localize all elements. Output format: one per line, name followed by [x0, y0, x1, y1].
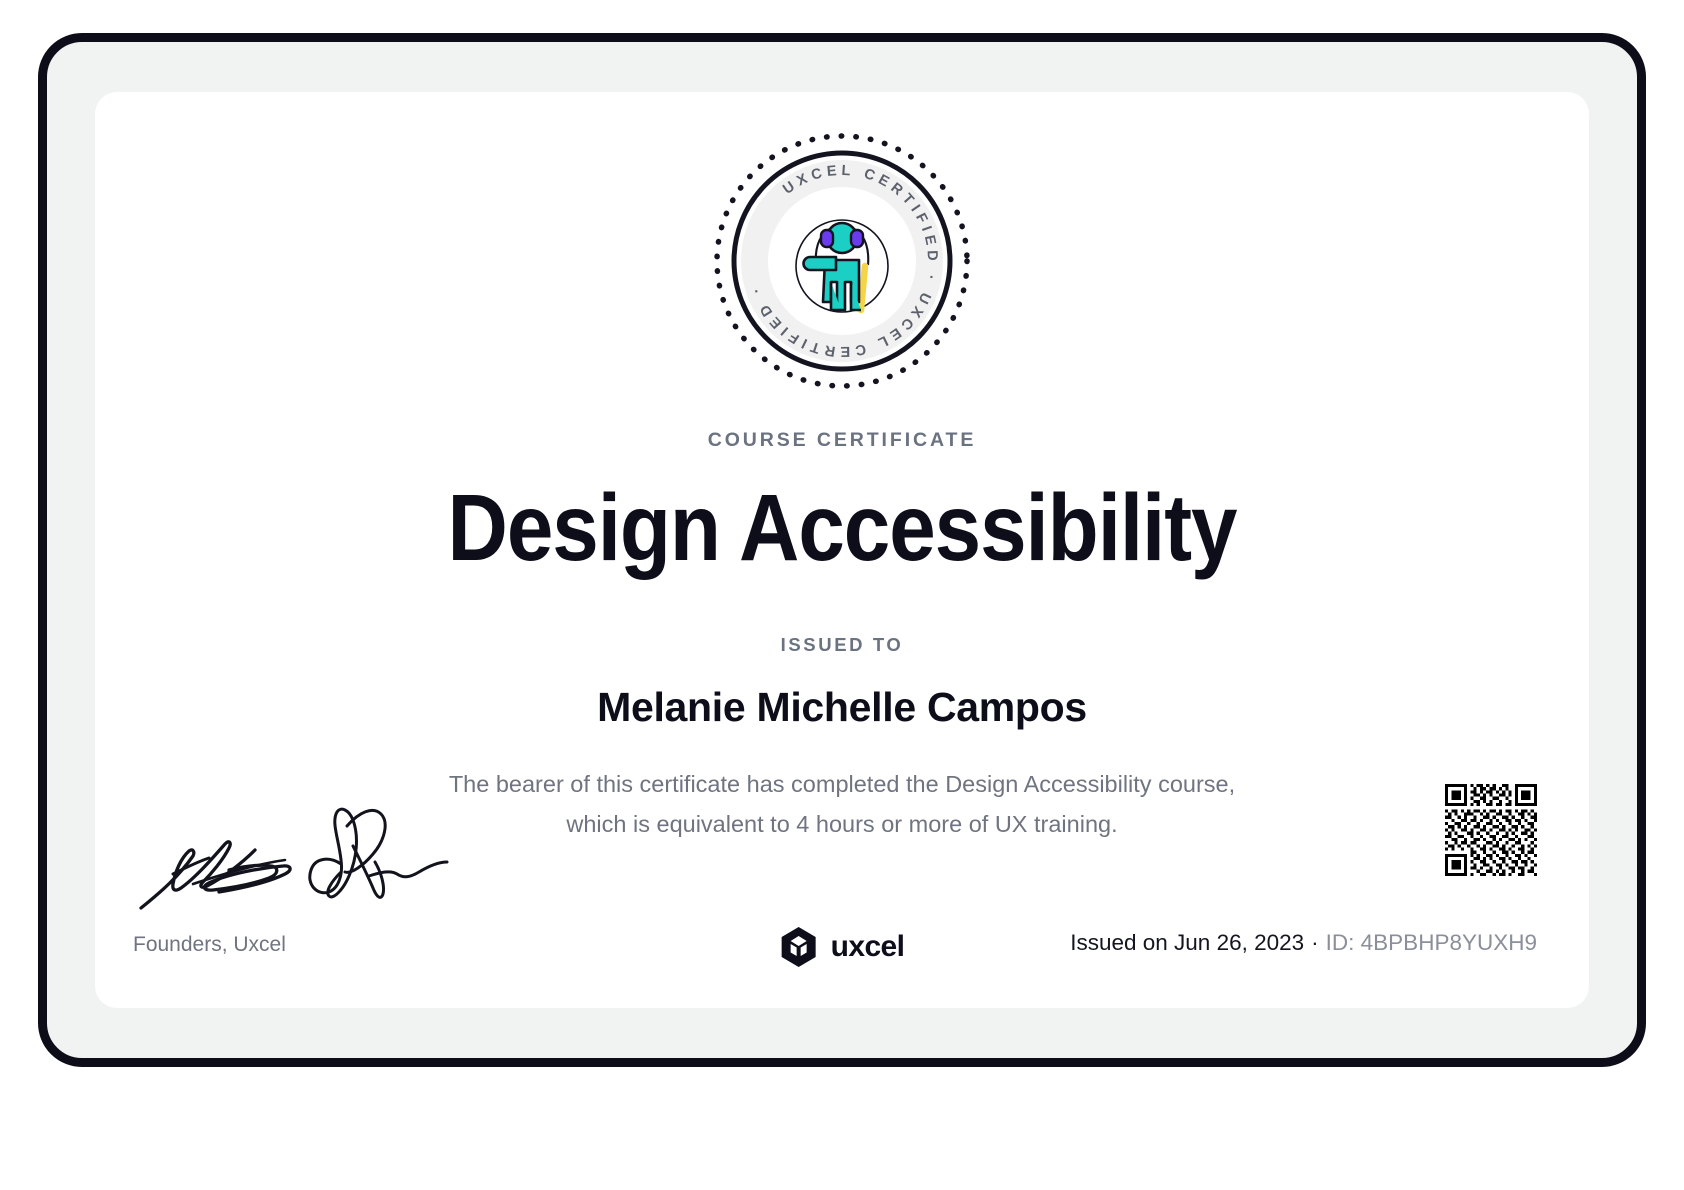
uxcel-certified-badge: UXCEL CERTIFIED · UXCEL CERTIFIED ·	[95, 130, 1589, 392]
uxcel-brand-logo: uxcel	[780, 926, 905, 968]
badge-svg: UXCEL CERTIFIED · UXCEL CERTIFIED ·	[711, 130, 973, 392]
issued-on-date: Issued on Jun 26, 2023	[1070, 930, 1304, 955]
uxcel-cube-logo-icon	[780, 926, 818, 968]
signatures-group	[133, 796, 473, 931]
certificate-title: Design Accessibility	[185, 480, 1500, 577]
founders-label: Founders, Uxcel	[133, 933, 286, 957]
uxcel-wordmark: uxcel	[831, 930, 905, 964]
certificate-frame: UXCEL CERTIFIED · UXCEL CERTIFIED ·	[38, 33, 1646, 1067]
person-arm	[804, 257, 837, 270]
founder-signature-1	[141, 842, 290, 908]
signatures-svg	[133, 796, 463, 926]
recipient-name: Melanie Michelle Campos	[95, 684, 1589, 731]
course-certificate-eyebrow: COURSE CERTIFICATE	[95, 429, 1589, 452]
headphone-right-cup	[851, 230, 863, 247]
verification-qr-code[interactable]	[1445, 784, 1537, 876]
credential-id: ID: 4BPBHP8YUXH9	[1326, 930, 1537, 955]
headphone-left-cup	[821, 230, 833, 247]
founder-signature-2	[310, 809, 447, 897]
issue-metadata: Issued on Jun 26, 2023·ID: 4BPBHP8YUXH9	[1070, 930, 1537, 956]
certificate-card: UXCEL CERTIFIED · UXCEL CERTIFIED ·	[95, 92, 1589, 1008]
certificate-footer: Founders, Uxcel uxcel Issued on Jun 26, …	[95, 778, 1589, 1008]
issued-to-eyebrow: ISSUED TO	[95, 634, 1589, 656]
meta-separator: ·	[1304, 930, 1326, 955]
logo-hexagon	[782, 927, 816, 967]
